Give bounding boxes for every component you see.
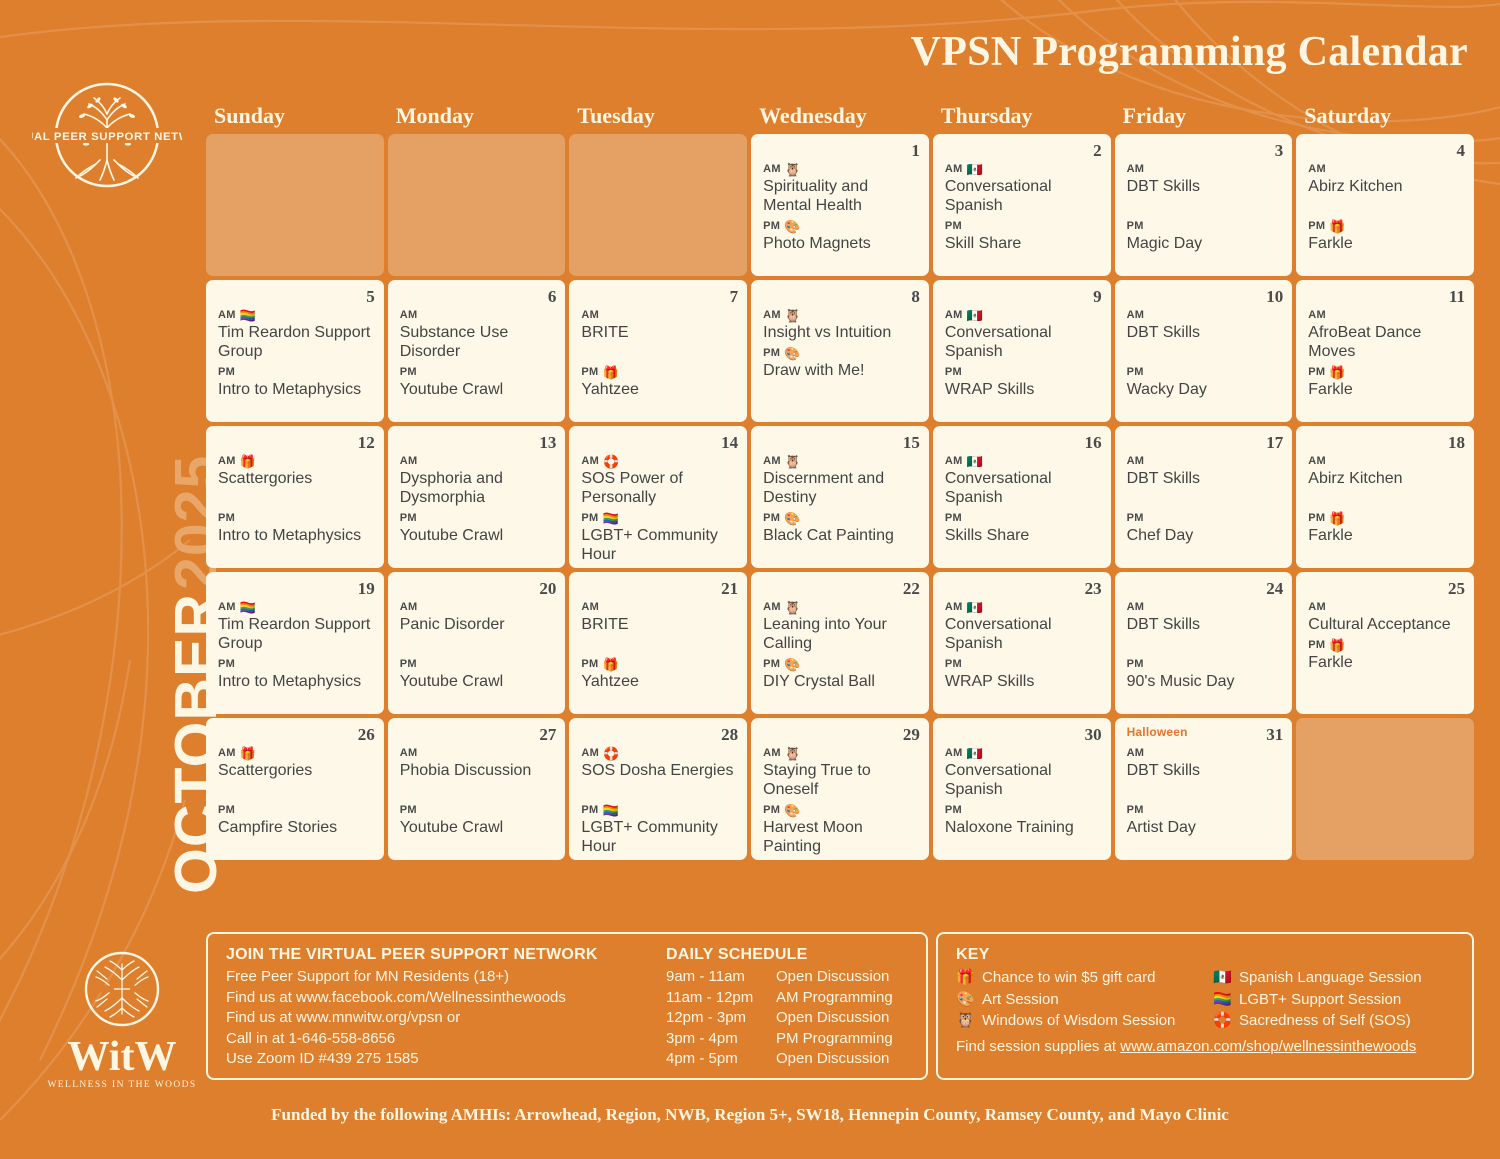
session-title: Wacky Day [1127, 380, 1284, 399]
session-am-3: AMDBT Skills [1127, 161, 1284, 196]
session-am-14: AM🛟SOS Power of Personally [581, 453, 738, 507]
pm-label: PM🎁 [1308, 637, 1465, 653]
session-pm-18: PM🎁Farkle [1308, 510, 1465, 545]
day-cell-23[interactable]: 23AM🇲🇽Conversational SpanishPMWRAP Skill… [933, 572, 1111, 714]
mexico-flag-icon: 🇲🇽 [1213, 967, 1231, 989]
pm-text: PM [218, 803, 235, 818]
session-am-15: AM🦉Discernment and Destiny [763, 453, 920, 507]
gift-icon: 🎁 [603, 366, 620, 379]
pm-text: PM [581, 657, 598, 672]
pm-text: PM [1127, 365, 1144, 380]
session-pm-15: PM🎨Black Cat Painting [763, 510, 920, 545]
day-cell-20[interactable]: 20AMPanic DisorderPMYoutube Crawl [388, 572, 566, 714]
am-text: AM [400, 746, 418, 761]
session-am-12: AM🎁Scattergories [218, 453, 375, 488]
am-label: AM🦉 [763, 161, 920, 177]
day-cell-3[interactable]: 3AMDBT SkillsPMMagic Day [1115, 134, 1293, 276]
session-title: Panic Disorder [400, 615, 557, 634]
session-am-27: AMPhobia Discussion [400, 745, 557, 780]
day-cell-16[interactable]: 16AM🇲🇽Conversational SpanishPMSkills Sha… [933, 426, 1111, 568]
pm-text: PM [945, 657, 962, 672]
day-cell-13[interactable]: 13AMDysphoria and DysmorphiaPMYoutube Cr… [388, 426, 566, 568]
session-am-10: AMDBT Skills [1127, 307, 1284, 342]
schedule-activity: PM Programming [776, 1029, 893, 1050]
session-am-1: AM🦉Spirituality and Mental Health [763, 161, 920, 215]
gift-icon: 🎁 [1329, 639, 1346, 652]
pm-label: PM [1127, 510, 1284, 526]
session-pm-21: PM🎁Yahtzee [581, 656, 738, 691]
session-title: Conversational Spanish [945, 761, 1102, 799]
day-number: 6 [548, 287, 557, 307]
session-title: Abirz Kitchen [1308, 469, 1465, 488]
am-text: AM [218, 308, 236, 323]
session-title: Phobia Discussion [400, 761, 557, 780]
day-cell-12[interactable]: 12AM🎁ScattergoriesPMIntro to Metaphysics [206, 426, 384, 568]
supplies-prefix: Find session supplies at [956, 1038, 1120, 1055]
day-cell-29[interactable]: 29AM🦉Staying True to OneselfPM🎨Harvest M… [751, 718, 929, 860]
am-text: AM [1308, 308, 1326, 323]
pm-text: PM [581, 511, 598, 526]
am-label: AM [1127, 599, 1284, 615]
pm-label: PM [400, 802, 557, 818]
session-title: Farkle [1308, 526, 1465, 545]
pm-label: PM [945, 656, 1102, 672]
join-info-line: Free Peer Support for MN Residents (18+) [226, 967, 666, 988]
session-title: Conversational Spanish [945, 177, 1102, 215]
schedule-time: 12pm - 3pm [666, 1008, 776, 1029]
owl-icon: 🦉 [785, 747, 802, 760]
pm-text: PM [945, 365, 962, 380]
session-pm-25: PM🎁Farkle [1308, 637, 1465, 672]
key-item-label: Art Session [982, 989, 1059, 1011]
weekday-header-tuesday: Tuesday [569, 103, 747, 129]
art-icon: 🎨 [784, 347, 801, 360]
session-title: Intro to Metaphysics [218, 526, 375, 545]
session-pm-19: PMIntro to Metaphysics [218, 656, 375, 691]
gift-icon: 🎁 [240, 455, 257, 468]
day-cell-26[interactable]: 26AM🎁ScattergoriesPMCampfire Stories [206, 718, 384, 860]
am-label: AM [1127, 453, 1284, 469]
art-icon: 🎨 [784, 658, 801, 671]
day-number: 21 [721, 579, 738, 599]
pm-label: PM [400, 656, 557, 672]
day-cell-11[interactable]: 11AMAfroBeat Dance MovesPM🎁Farkle [1296, 280, 1474, 422]
session-am-22: AM🦉Leaning into Your Calling [763, 599, 920, 653]
day-number: 1 [911, 141, 920, 161]
am-label: AM [1127, 745, 1284, 761]
am-text: AM [945, 454, 963, 469]
mexico-icon: 🇲🇽 [967, 455, 984, 468]
session-title: Discernment and Destiny [763, 469, 920, 507]
pm-text: PM [1127, 511, 1144, 526]
day-number: 30 [1085, 725, 1102, 745]
lifebuoy-icon: 🛟 [1213, 1010, 1231, 1032]
witw-tree-icon [83, 950, 161, 1028]
session-pm-16: PMSkills Share [945, 510, 1102, 545]
session-pm-13: PMYoutube Crawl [400, 510, 557, 545]
day-number: 25 [1448, 579, 1465, 599]
key-item: 🏳️‍🌈LGBT+ Support Session [1213, 989, 1454, 1011]
slot-spacer [1127, 488, 1284, 507]
am-text: AM [763, 308, 781, 323]
session-title: Harvest Moon Painting [763, 818, 920, 856]
am-label: AM [1127, 161, 1284, 177]
session-am-20: AMPanic Disorder [400, 599, 557, 634]
pm-text: PM [400, 365, 417, 380]
pm-label: PM🎁 [1308, 510, 1465, 526]
day-number: 4 [1456, 141, 1465, 161]
am-text: AM [218, 746, 236, 761]
mexico-icon: 🇲🇽 [967, 309, 984, 322]
am-label: AM🦉 [763, 745, 920, 761]
page-title: VPSN Programming Calendar [911, 28, 1468, 76]
am-label: AM🎁 [218, 745, 375, 761]
witw-tagline: WELLNESS IN THE WOODS [42, 1080, 202, 1090]
session-am-21: AMBRITE [581, 599, 738, 634]
join-info-line: Find us at www.mnwitw.org/vpsn or [226, 1008, 666, 1029]
art-icon: 🎨 [784, 220, 801, 233]
am-text: AM [763, 746, 781, 761]
art-icon: 🎨 [784, 804, 801, 817]
pm-text: PM [945, 511, 962, 526]
session-title: Youtube Crawl [400, 818, 557, 837]
session-am-16: AM🇲🇽Conversational Spanish [945, 453, 1102, 507]
pm-label: PM [400, 364, 557, 380]
day-number: 26 [358, 725, 375, 745]
day-cell-24[interactable]: 24AMDBT SkillsPM90's Music Day [1115, 572, 1293, 714]
pm-label: PM [945, 510, 1102, 526]
day-number: 27 [539, 725, 556, 745]
calendar-week-row: 1AM🦉Spirituality and Mental HealthPM🎨Pho… [206, 134, 1474, 276]
am-text: AM [1127, 454, 1145, 469]
am-text: AM [400, 308, 418, 323]
am-label: AM🎁 [218, 453, 375, 469]
am-text: AM [763, 454, 781, 469]
owl-icon: 🦉 [785, 163, 802, 176]
session-title: Farkle [1308, 653, 1465, 672]
am-label: AM [400, 453, 557, 469]
day-number: 28 [721, 725, 738, 745]
session-title: Abirz Kitchen [1308, 177, 1465, 196]
session-am-17: AMDBT Skills [1127, 453, 1284, 488]
day-cell-empty [569, 134, 747, 276]
session-title: DIY Crystal Ball [763, 672, 920, 691]
session-am-2: AM🇲🇽Conversational Spanish [945, 161, 1102, 215]
schedule-activity: AM Programming [776, 988, 893, 1009]
session-am-11: AMAfroBeat Dance Moves [1308, 307, 1465, 361]
schedule-time: 4pm - 5pm [666, 1049, 776, 1070]
day-number: 9 [1093, 287, 1102, 307]
am-text: AM [945, 746, 963, 761]
am-label: AM [581, 307, 738, 323]
session-am-8: AM🦉Insight vs Intuition [763, 307, 920, 342]
join-info-line: Find us at www.facebook.com/Wellnessinth… [226, 988, 666, 1009]
session-title: Farkle [1308, 234, 1465, 253]
slot-spacer [218, 780, 375, 799]
key-item-label: Chance to win $5 gift card [982, 967, 1155, 989]
am-label: AM🛟 [581, 453, 738, 469]
day-number: 16 [1085, 433, 1102, 453]
pm-text: PM [763, 511, 780, 526]
slot-spacer [1127, 634, 1284, 653]
session-title: DBT Skills [1127, 177, 1284, 196]
mexico-icon: 🇲🇽 [967, 601, 984, 614]
day-cell-15[interactable]: 15AM🦉Discernment and DestinyPM🎨Black Cat… [751, 426, 929, 568]
day-cell-6[interactable]: 6AMSubstance Use DisorderPMYoutube Crawl [388, 280, 566, 422]
slot-spacer [400, 780, 557, 799]
session-pm-9: PMWRAP Skills [945, 364, 1102, 399]
pride-flag-icon: 🏳️‍🌈 [1213, 989, 1231, 1011]
day-cell-21[interactable]: 21AMBRITEPM🎁Yahtzee [569, 572, 747, 714]
schedule-activity: Open Discussion [776, 967, 889, 988]
day-cell-17[interactable]: 17AMDBT SkillsPMChef Day [1115, 426, 1293, 568]
session-am-29: AM🦉Staying True to Oneself [763, 745, 920, 799]
day-cell-9[interactable]: 9AM🇲🇽Conversational SpanishPMWRAP Skills [933, 280, 1111, 422]
session-title: Farkle [1308, 380, 1465, 399]
session-pm-2: PMSkill Share [945, 218, 1102, 253]
session-title: Intro to Metaphysics [218, 672, 375, 691]
day-cell-18[interactable]: 18AMAbirz KitchenPM🎁Farkle [1296, 426, 1474, 568]
session-am-9: AM🇲🇽Conversational Spanish [945, 307, 1102, 361]
key-item-label: Sacredness of Self (SOS) [1239, 1010, 1411, 1032]
holiday-label: Halloween [1127, 725, 1188, 739]
pm-label: PM [218, 802, 375, 818]
session-title: BRITE [581, 323, 738, 342]
session-title: Magic Day [1127, 234, 1284, 253]
am-text: AM [1127, 746, 1145, 761]
day-cell-empty [388, 134, 566, 276]
schedule-row: 3pm - 4pmPM Programming [666, 1029, 908, 1050]
am-text: AM [945, 162, 963, 177]
session-am-5: AM🏳️‍🌈Tim Reardon Support Group [218, 307, 375, 361]
pride-icon: 🏳️‍🌈 [603, 804, 620, 817]
pm-label: PM🎁 [581, 364, 738, 380]
weekday-header-wednesday: Wednesday [751, 103, 929, 129]
join-info-line: Call in at 1-646-558-8656 [226, 1029, 666, 1050]
mexico-icon: 🇲🇽 [967, 163, 984, 176]
session-title: Spirituality and Mental Health [763, 177, 920, 215]
day-number: 7 [730, 287, 739, 307]
key-column-right: 🇲🇽Spanish Language Session🏳️‍🌈LGBT+ Supp… [1213, 967, 1454, 1032]
day-cell-22[interactable]: 22AM🦉Leaning into Your CallingPM🎨DIY Cry… [751, 572, 929, 714]
gift-icon: 🎁 [1329, 220, 1346, 233]
am-text: AM [1127, 162, 1145, 177]
calendar-week-row: 19AM🏳️‍🌈Tim Reardon Support GroupPMIntro… [206, 572, 1474, 714]
session-am-30: AM🇲🇽Conversational Spanish [945, 745, 1102, 799]
am-text: AM [218, 600, 236, 615]
session-title: Dysphoria and Dysmorphia [400, 469, 557, 507]
pm-text: PM [400, 511, 417, 526]
session-am-7: AMBRITE [581, 307, 738, 342]
witw-wordmark: WitW [42, 1035, 202, 1079]
session-title: 90's Music Day [1127, 672, 1284, 691]
session-title: Cultural Acceptance [1308, 615, 1465, 634]
key-item: 🦉Windows of Wisdom Session [956, 1010, 1197, 1032]
weekday-header-saturday: Saturday [1296, 103, 1474, 129]
session-title: SOS Dosha Energies [581, 761, 738, 780]
day-number: 29 [903, 725, 920, 745]
am-text: AM [400, 454, 418, 469]
pride-icon: 🏳️‍🌈 [240, 601, 257, 614]
key-item-label: LGBT+ Support Session [1239, 989, 1401, 1011]
session-title: Youtube Crawl [400, 380, 557, 399]
gift-icon: 🎁 [603, 658, 620, 671]
pm-text: PM [1308, 365, 1325, 380]
day-cell-1[interactable]: 1AM🦉Spirituality and Mental HealthPM🎨Pho… [751, 134, 929, 276]
session-title: Youtube Crawl [400, 672, 557, 691]
am-text: AM [1308, 162, 1326, 177]
session-pm-3: PMMagic Day [1127, 218, 1284, 253]
key-legend-panel: KEY 🎁Chance to win $5 gift card🎨Art Sess… [936, 932, 1474, 1080]
am-label: AM🏳️‍🌈 [218, 599, 375, 615]
owl-icon: 🦉 [785, 309, 802, 322]
session-title: Skills Share [945, 526, 1102, 545]
day-cell-2[interactable]: 2AM🇲🇽Conversational SpanishPMSkill Share [933, 134, 1111, 276]
amazon-shop-link[interactable]: www.amazon.com/shop/wellnessinthewoods [1120, 1038, 1416, 1055]
weekday-header-friday: Friday [1115, 103, 1293, 129]
session-title: SOS Power of Personally [581, 469, 738, 507]
am-text: AM [581, 600, 599, 615]
key-item: 🎨Art Session [956, 989, 1197, 1011]
day-cell-7[interactable]: 7AMBRITEPM🎁Yahtzee [569, 280, 747, 422]
pm-label: PM [945, 218, 1102, 234]
am-label: AM🇲🇽 [945, 307, 1102, 323]
session-title: Skill Share [945, 234, 1102, 253]
slot-spacer [1308, 196, 1465, 215]
session-pm-1: PM🎨Photo Magnets [763, 218, 920, 253]
session-pm-11: PM🎁Farkle [1308, 364, 1465, 399]
session-title: Campfire Stories [218, 818, 375, 837]
schedule-row: 9am - 11amOpen Discussion [666, 967, 908, 988]
am-label: AM🦉 [763, 307, 920, 323]
pm-label: PM🎨 [763, 510, 920, 526]
session-title: Tim Reardon Support Group [218, 323, 375, 361]
session-title: Conversational Spanish [945, 615, 1102, 653]
session-am-26: AM🎁Scattergories [218, 745, 375, 780]
supplies-line: Find session supplies at www.amazon.com/… [956, 1038, 1454, 1055]
pm-text: PM [218, 365, 235, 380]
funding-footer: Funded by the following AMHIs: Arrowhead… [0, 1105, 1500, 1125]
key-heading: KEY [956, 946, 1454, 964]
pm-text: PM [581, 365, 598, 380]
session-title: Tim Reardon Support Group [218, 615, 375, 653]
schedule-activity: Open Discussion [776, 1049, 889, 1070]
pm-label: PM [945, 802, 1102, 818]
daily-schedule-column: DAILY SCHEDULE 9am - 11amOpen Discussion… [666, 946, 908, 1070]
vpsn-logo: VIRTUAL PEER SUPPORT NETWORK [32, 76, 182, 194]
day-number: 15 [903, 433, 920, 453]
pm-text: PM [400, 803, 417, 818]
session-title: WRAP Skills [945, 380, 1102, 399]
slot-spacer [1127, 196, 1284, 215]
am-label: AM🏳️‍🌈 [218, 307, 375, 323]
session-pm-12: PMIntro to Metaphysics [218, 510, 375, 545]
day-cell-30[interactable]: 30AM🇲🇽Conversational SpanishPMNaloxone T… [933, 718, 1111, 860]
am-label: AM [1127, 307, 1284, 323]
day-cell-5[interactable]: 5AM🏳️‍🌈Tim Reardon Support GroupPMIntro … [206, 280, 384, 422]
calendar-page: VPSN Programming Calendar [0, 0, 1500, 1159]
day-cell-8[interactable]: 8AM🦉Insight vs IntuitionPM🎨Draw with Me! [751, 280, 929, 422]
vpsn-logo-text: VIRTUAL PEER SUPPORT NETWORK [32, 131, 182, 143]
pm-label: PM [1127, 802, 1284, 818]
schedule-time: 9am - 11am [666, 967, 776, 988]
session-title: DBT Skills [1127, 323, 1284, 342]
session-title: Scattergories [218, 761, 375, 780]
key-item-label: Windows of Wisdom Session [982, 1010, 1175, 1032]
pride-icon: 🏳️‍🌈 [240, 309, 257, 322]
am-text: AM [945, 308, 963, 323]
pm-label: PM [400, 510, 557, 526]
pm-label: PM🎨 [763, 656, 920, 672]
owl-icon: 🦉 [785, 601, 802, 614]
session-title: DBT Skills [1127, 615, 1284, 634]
session-am-18: AMAbirz Kitchen [1308, 453, 1465, 488]
pm-text: PM [400, 657, 417, 672]
key-item: 🎁Chance to win $5 gift card [956, 967, 1197, 989]
pm-text: PM [763, 219, 780, 234]
day-cell-10[interactable]: 10AMDBT SkillsPMWacky Day [1115, 280, 1293, 422]
pm-text: PM [945, 803, 962, 818]
witw-logo: WitW WELLNESS IN THE WOODS [42, 950, 202, 1090]
weekday-header-row: SundayMondayTuesdayWednesdayThursdayFrid… [206, 103, 1474, 129]
day-cell-27[interactable]: 27AMPhobia DiscussionPMYoutube Crawl [388, 718, 566, 860]
session-title: BRITE [581, 615, 738, 634]
pm-label: PM🎁 [581, 656, 738, 672]
pm-text: PM [218, 657, 235, 672]
day-cell-19[interactable]: 19AM🏳️‍🌈Tim Reardon Support GroupPMIntro… [206, 572, 384, 714]
am-text: AM [763, 162, 781, 177]
day-cell-25[interactable]: 25AMCultural AcceptancePM🎁Farkle [1296, 572, 1474, 714]
art-icon: 🎨 [784, 512, 801, 525]
session-am-24: AMDBT Skills [1127, 599, 1284, 634]
day-number: 8 [911, 287, 920, 307]
slot-spacer [400, 634, 557, 653]
day-number: 14 [721, 433, 738, 453]
pm-text: PM [1127, 657, 1144, 672]
day-cell-14[interactable]: 14AM🛟SOS Power of PersonallyPM🏳️‍🌈LGBT+ … [569, 426, 747, 568]
session-am-31: AMDBT Skills [1127, 745, 1284, 780]
am-text: AM [400, 600, 418, 615]
day-cell-31[interactable]: Halloween31AMDBT SkillsPMArtist Day [1115, 718, 1293, 860]
gift-icon: 🎁 [240, 747, 257, 760]
am-label: AM🇲🇽 [945, 453, 1102, 469]
day-number: 17 [1266, 433, 1283, 453]
day-number: 18 [1448, 433, 1465, 453]
session-title: Yahtzee [581, 380, 738, 399]
am-label: AM [581, 599, 738, 615]
session-pm-8: PM🎨Draw with Me! [763, 345, 920, 380]
slot-spacer [581, 780, 738, 799]
calendar-weeks: 1AM🦉Spirituality and Mental HealthPM🎨Pho… [206, 134, 1474, 860]
owl-icon: 🦉 [785, 455, 802, 468]
day-cell-28[interactable]: 28AM🛟SOS Dosha EnergiesPM🏳️‍🌈LGBT+ Commu… [569, 718, 747, 860]
pm-label: PM [1127, 364, 1284, 380]
session-title: Artist Day [1127, 818, 1284, 837]
key-item: 🛟Sacredness of Self (SOS) [1213, 1010, 1454, 1032]
calendar-week-row: 26AM🎁ScattergoriesPMCampfire Stories27AM… [206, 718, 1474, 860]
session-am-25: AMCultural Acceptance [1308, 599, 1465, 634]
join-network-panel: JOIN THE VIRTUAL PEER SUPPORT NETWORK Fr… [206, 932, 928, 1080]
pm-label: PM [218, 364, 375, 380]
session-pm-10: PMWacky Day [1127, 364, 1284, 399]
session-title: DBT Skills [1127, 761, 1284, 780]
day-cell-4[interactable]: 4AMAbirz KitchenPM🎁Farkle [1296, 134, 1474, 276]
am-text: AM [581, 454, 599, 469]
session-title: LGBT+ Community Hour [581, 526, 738, 564]
am-text: AM [763, 600, 781, 615]
am-label: AM [400, 599, 557, 615]
session-pm-17: PMChef Day [1127, 510, 1284, 545]
